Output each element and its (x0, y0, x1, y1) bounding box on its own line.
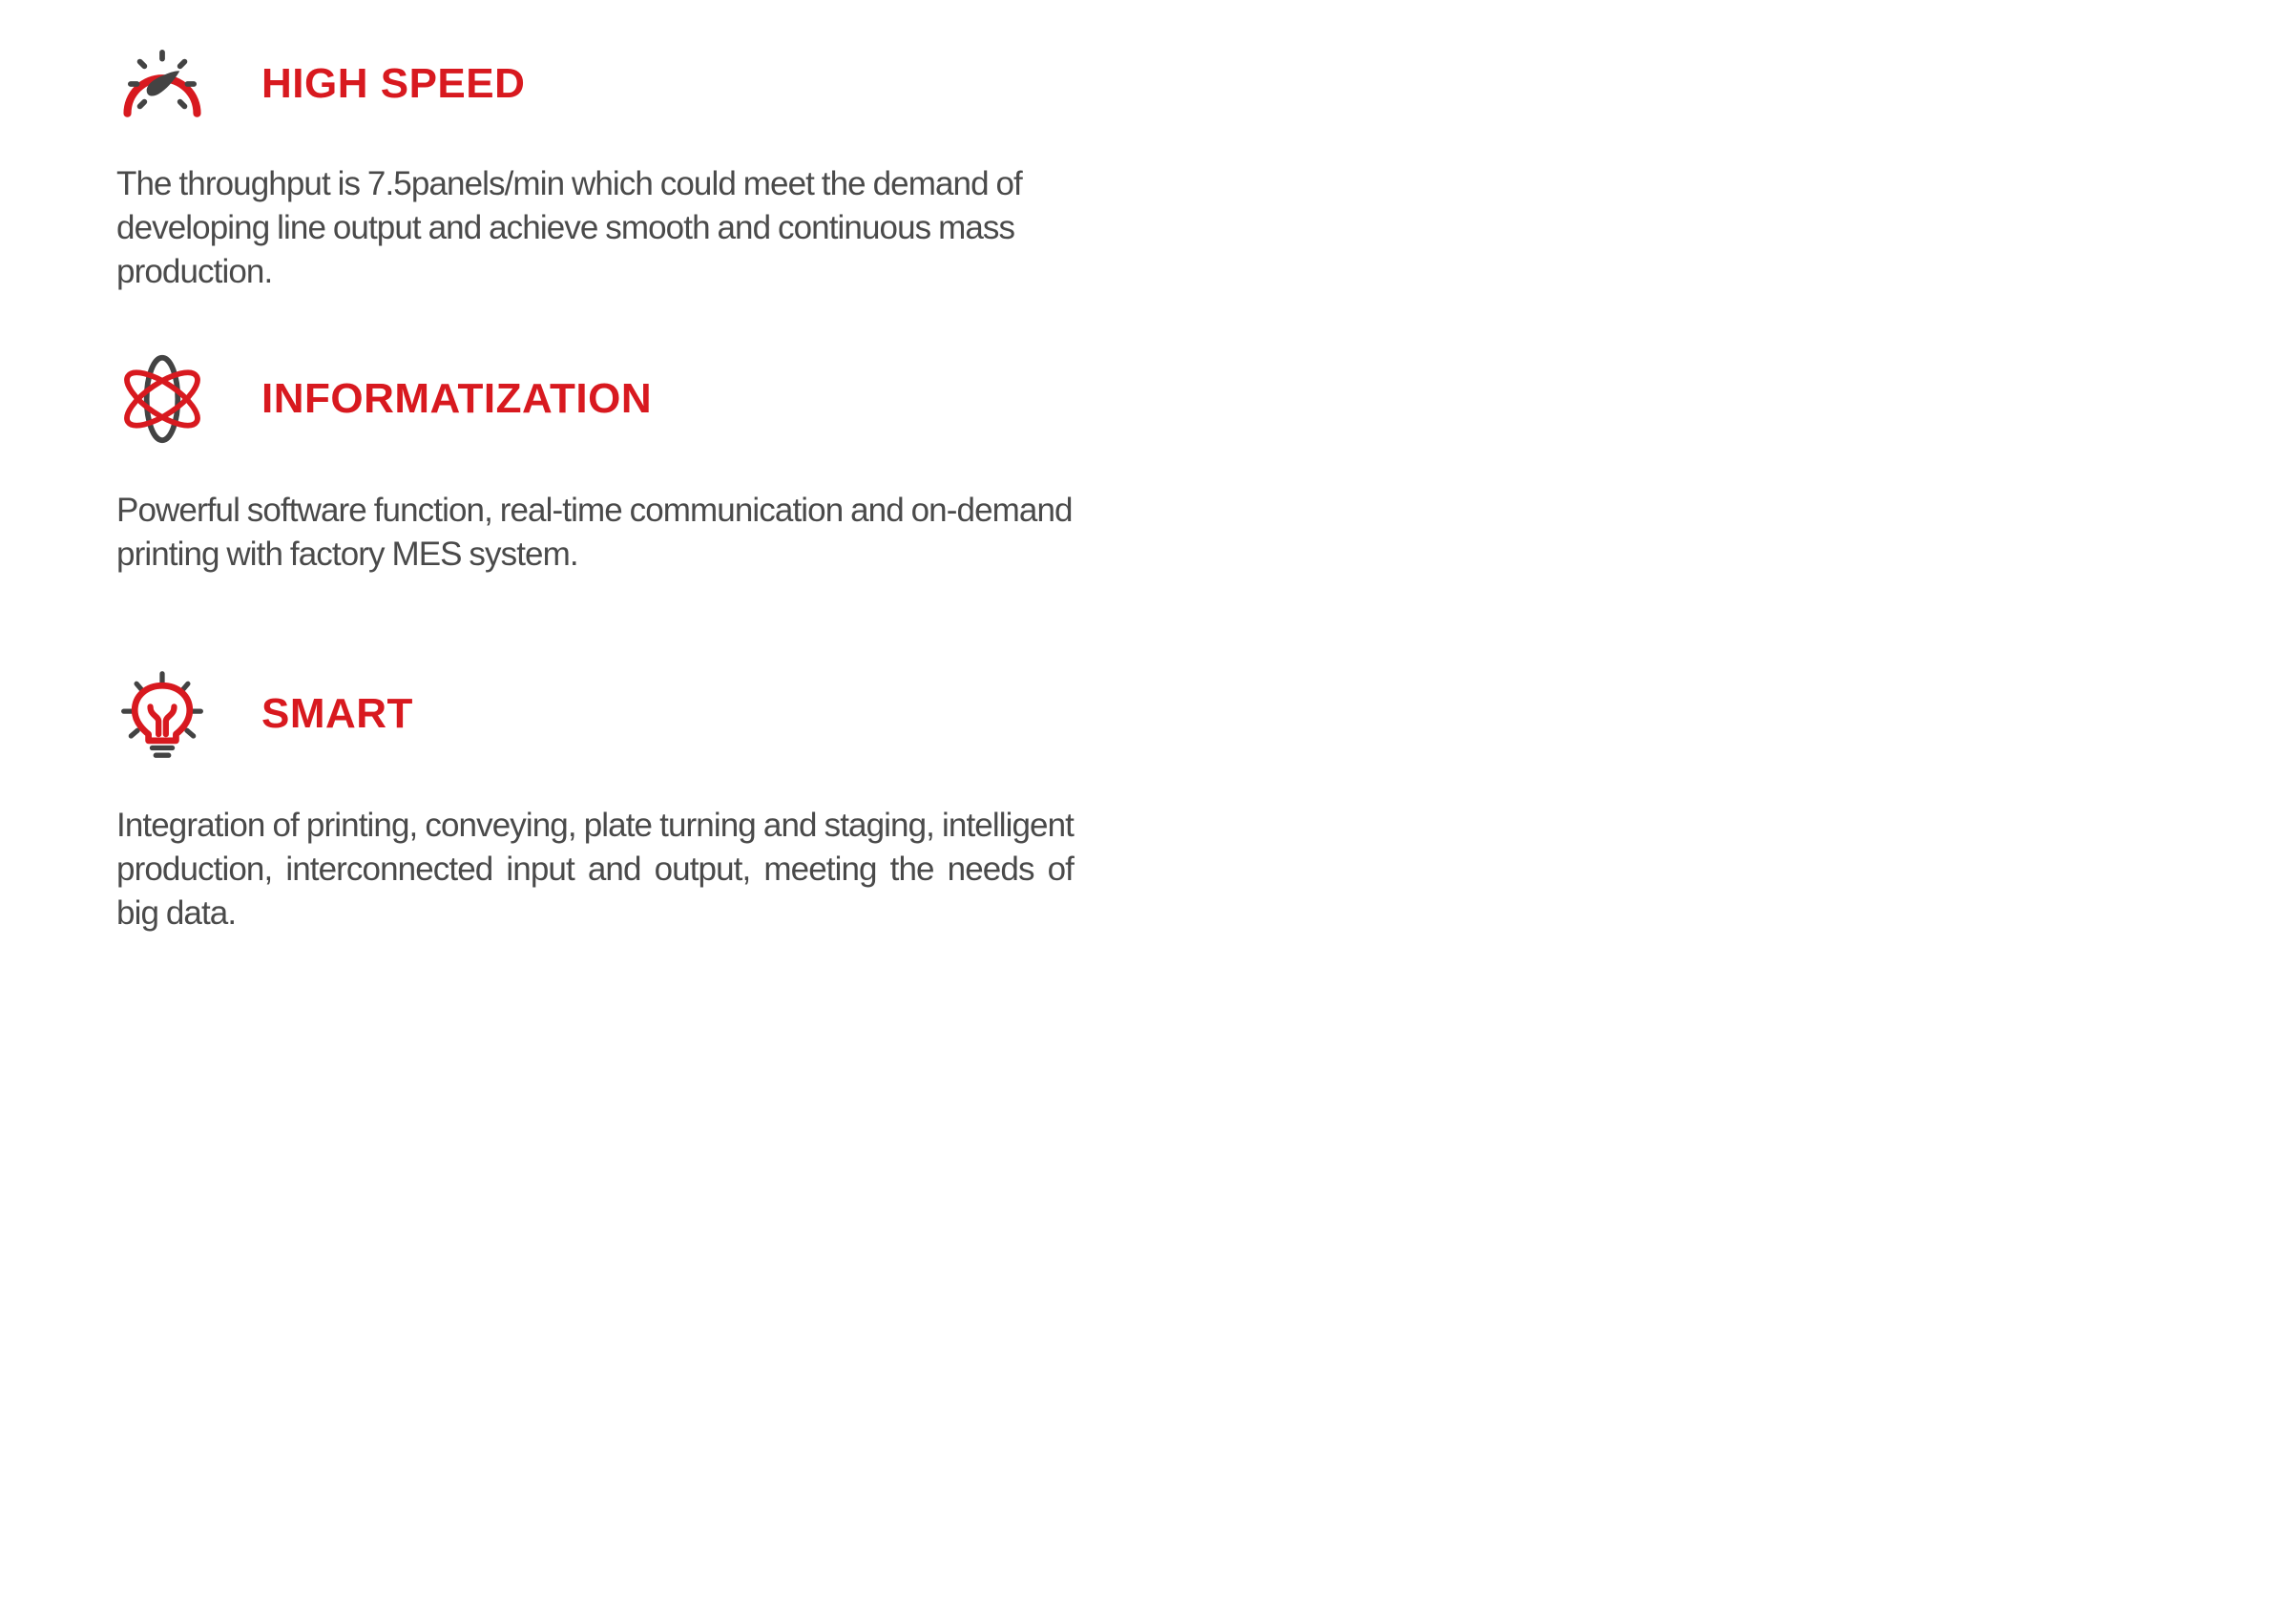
feature-header: HIGH SPEED (116, 32, 1074, 136)
feature-title: HIGH SPEED (261, 63, 525, 105)
feature-header: NEW BEYOND (1150, 32, 2296, 136)
feature-card-full-quality: FULL QUALITY Advanced grayscale printing… (1150, 657, 2296, 972)
lightbulb-icon (116, 668, 208, 760)
speedometer-icon (116, 38, 208, 130)
feature-card-new-design: NEW DESIGN Inline stream technology and … (1150, 342, 2296, 657)
feature-description: Advanced grayscale printing technology t… (1150, 804, 2296, 1597)
feature-description: The throughput is 7.5panels/min which co… (116, 162, 1074, 295)
feature-description: Powerful software function, real-time co… (116, 489, 1074, 577)
feature-card-high-speed: HIGH SPEED The throughput is 7.5panels/m… (0, 27, 1150, 342)
feature-header: FULL QUALITY (1150, 662, 2296, 766)
feature-header: NEW DESIGN (1150, 347, 2296, 451)
feature-header: INFORMATIZATION (116, 347, 1074, 451)
feature-title: SMART (261, 693, 413, 735)
feature-card-new-beyond: NEW BEYOND Create the inline stream tech… (1150, 27, 2296, 342)
feature-card-informatization: INFORMATIZATION Powerful software functi… (0, 342, 1150, 657)
feature-card-smart: SMART Integration of printing, conveying… (0, 657, 1150, 972)
atom-icon (116, 353, 208, 445)
feature-header: SMART (116, 662, 1074, 766)
feature-description: Integration of printing, conveying, plat… (116, 804, 1074, 936)
feature-title: INFORMATIZATION (261, 378, 652, 420)
feature-grid: HIGH SPEED The throughput is 7.5panels/m… (0, 0, 2296, 1001)
